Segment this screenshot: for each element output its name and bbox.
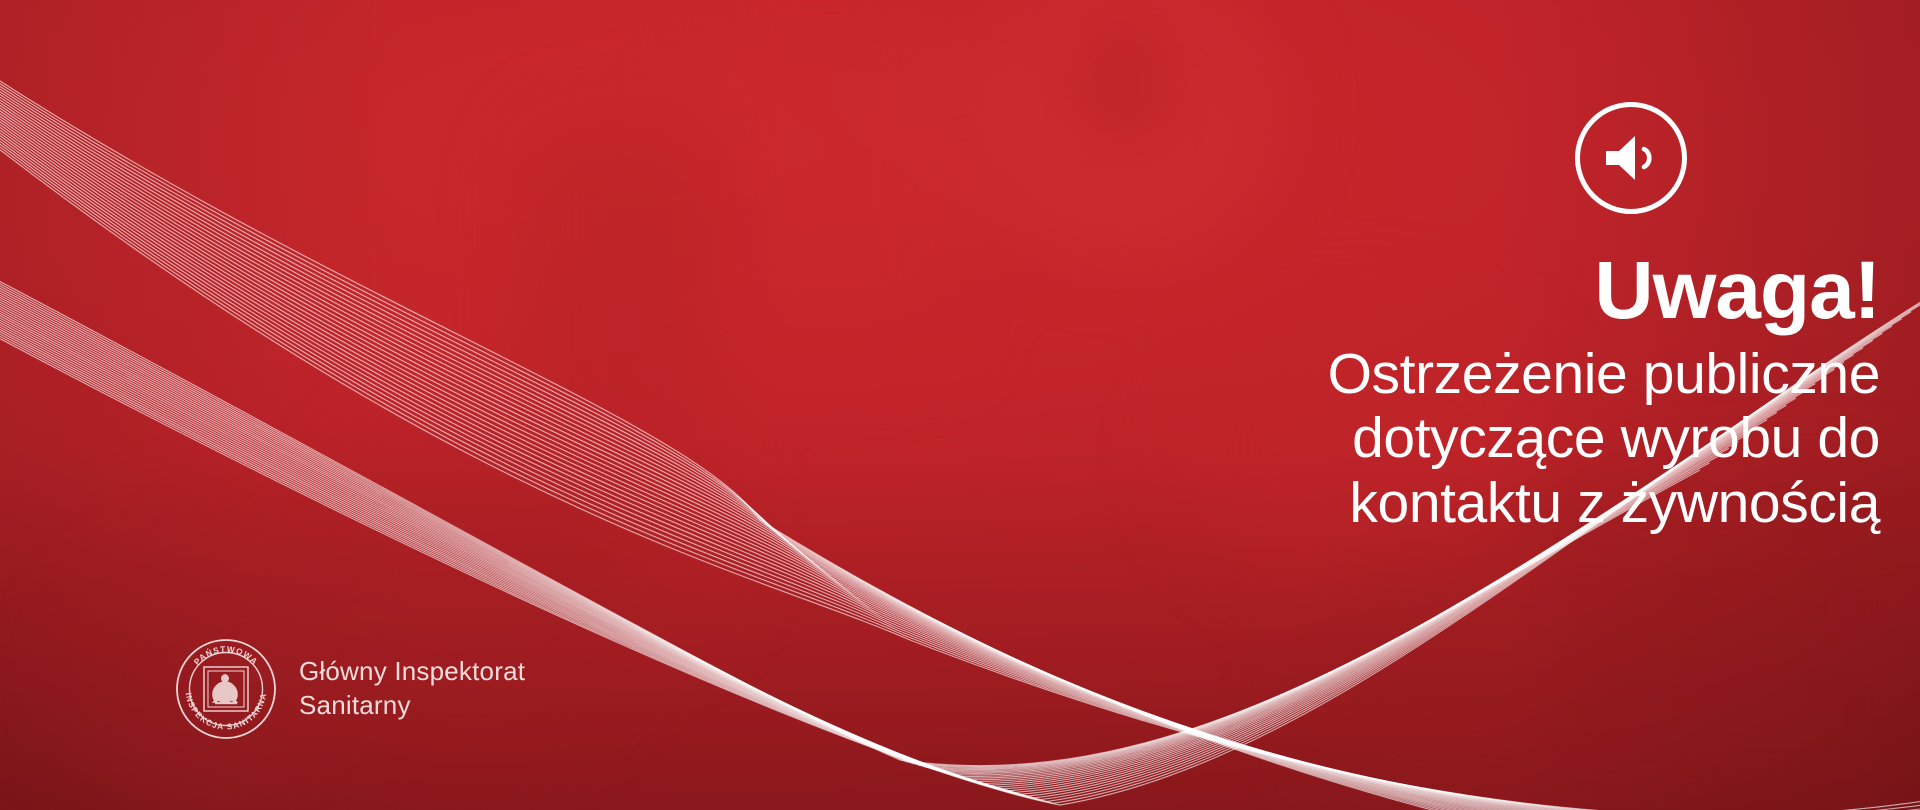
subtitle-line-1: Ostrzeżenie publiczne — [1020, 342, 1880, 406]
page-title: Uwaga! — [1020, 250, 1880, 332]
organisation-name-line-1: Główny Inspektorat — [299, 655, 525, 689]
headline-subtitle: Ostrzeżenie publiczne dotyczące wyrobu d… — [1020, 342, 1880, 535]
sanitary-inspection-seal-icon: PAŃSTWOWA INSPEKCJA SANITARNA — [175, 638, 277, 740]
organisation-name: Główny Inspektorat Sanitarny — [299, 655, 525, 723]
logo-lockup: PAŃSTWOWA INSPEKCJA SANITARNA Główny Ins… — [175, 638, 525, 740]
subtitle-line-2: dotyczące wyrobu do — [1020, 406, 1880, 470]
organisation-name-line-2: Sanitarny — [299, 689, 525, 723]
public-warning-banner: Uwaga! Ostrzeżenie publiczne dotyczące w… — [0, 0, 1920, 810]
speaker-announcement-icon — [1575, 102, 1687, 214]
subtitle-line-3: kontaktu z żywnością — [1020, 471, 1880, 535]
headline-block: Uwaga! Ostrzeżenie publiczne dotyczące w… — [1020, 250, 1880, 535]
